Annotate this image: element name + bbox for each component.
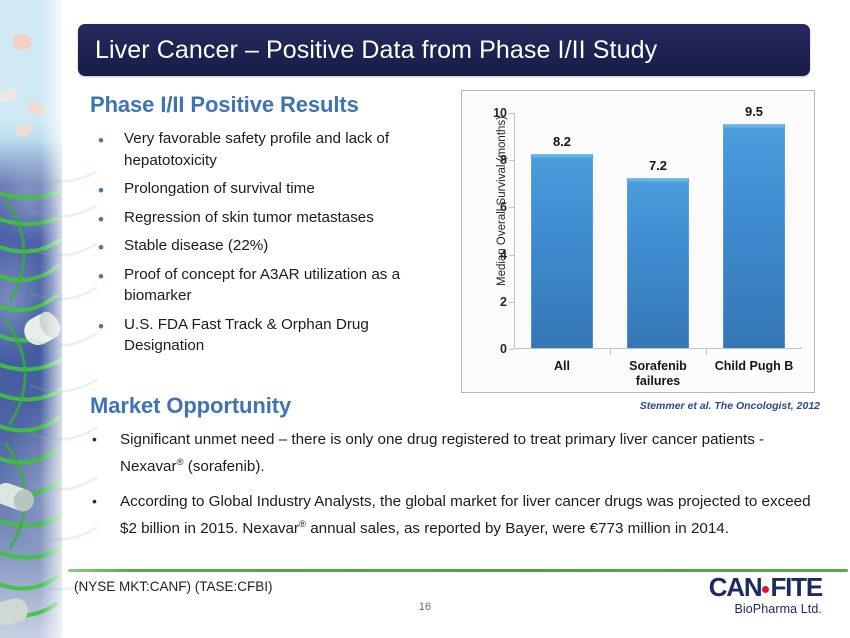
- chart-y-tick-label: 10: [493, 106, 507, 120]
- chart-bar-cap: [724, 124, 784, 128]
- survival-bar-chart: Median Overall Survival (months) 0246810…: [461, 90, 815, 393]
- list-item: • Significant unmet need – there is only…: [92, 428, 812, 478]
- bullet-dot-icon: •: [98, 264, 124, 285]
- results-bullet-list: • Very favorable safety profile and lack…: [98, 128, 448, 364]
- chart-bar-cap: [532, 154, 592, 158]
- bullet-dot-icon: •: [98, 207, 124, 228]
- list-item-text: Very favorable safety profile and lack o…: [124, 128, 448, 171]
- ghost-swirl-graphic: [30, 150, 100, 620]
- section-heading-results: Phase I/II Positive Results: [90, 92, 359, 118]
- list-item-text: U.S. FDA Fast Track & Orphan Drug Design…: [124, 314, 448, 357]
- list-item: • Stable disease (22%): [98, 235, 448, 257]
- section-heading-market: Market Opportunity: [90, 393, 291, 419]
- slide-canvas: Liver Cancer – Positive Data from Phase …: [0, 0, 850, 638]
- list-item-text: According to Global Industry Analysts, t…: [120, 490, 812, 540]
- chart-bar: 8.2: [531, 154, 593, 348]
- chart-x-axis-line: [514, 348, 802, 349]
- company-logo: CANFITE BioPharma Ltd.: [686, 574, 822, 616]
- page-title: Liver Cancer – Positive Data from Phase …: [78, 36, 657, 65]
- chart-y-tick-label: 8: [500, 153, 507, 167]
- list-item: • According to Global Industry Analysts,…: [92, 490, 812, 540]
- chart-y-tick-label: 4: [500, 248, 507, 262]
- logo-subtitle: BioPharma Ltd.: [686, 602, 822, 616]
- chart-plot-area: 0246810 8.27.29.5 AllSorafenibfailuresCh…: [514, 113, 802, 349]
- logo-word-fite: FITE: [770, 574, 822, 600]
- market-bullet-list: • Significant unmet need – there is only…: [92, 428, 812, 552]
- bullet-dot-icon: •: [98, 235, 124, 256]
- list-item-text: Prolongation of survival time: [124, 178, 315, 200]
- chart-y-tick-label: 6: [500, 200, 507, 214]
- list-item: • Regression of skin tumor metastases: [98, 207, 448, 229]
- chart-y-tick-label: 2: [500, 295, 507, 309]
- chart-bar-cap: [628, 178, 688, 182]
- list-item: • Very favorable safety profile and lack…: [98, 128, 448, 171]
- list-item: • Proof of concept for A3AR utilization …: [98, 264, 448, 307]
- bullet-dot-icon: •: [92, 490, 120, 508]
- chart-bar: 9.5: [723, 124, 785, 348]
- chart-category-label: Sorafenibfailures: [629, 359, 687, 389]
- chart-y-tick-mark: [509, 207, 514, 208]
- chart-y-axis-line: [514, 113, 515, 349]
- logo-red-dot-icon: [762, 586, 769, 593]
- chart-y-tick-mark: [509, 302, 514, 303]
- chart-y-tick-mark: [509, 113, 514, 114]
- chart-bar: 7.2: [627, 178, 689, 348]
- list-item: • Prolongation of survival time: [98, 178, 448, 200]
- chart-category-separator: [706, 349, 707, 355]
- chart-y-tick-mark: [509, 349, 514, 350]
- chart-bar-value-label: 7.2: [649, 158, 667, 173]
- list-item-text: Regression of skin tumor metastases: [124, 207, 374, 229]
- chart-bar-value-label: 9.5: [745, 104, 763, 119]
- logo-word-can: CAN: [709, 574, 762, 600]
- chart-citation: Stemmer et al. The Oncologist, 2012: [620, 400, 820, 412]
- stock-ticker-text: (NYSE MKT:CANF) (TASE:CFBI): [74, 579, 273, 594]
- list-item: • U.S. FDA Fast Track & Orphan Drug Desi…: [98, 314, 448, 357]
- list-item-text: Significant unmet need – there is only o…: [120, 428, 812, 478]
- chart-y-tick-mark: [509, 255, 514, 256]
- chart-y-tick-label: 0: [500, 342, 507, 356]
- bullet-dot-icon: •: [98, 314, 124, 335]
- bullet-dot-icon: •: [92, 428, 120, 446]
- slide-title-bar: Liver Cancer – Positive Data from Phase …: [78, 24, 810, 76]
- bullet-dot-icon: •: [98, 178, 124, 199]
- chart-bar-value-label: 8.2: [553, 134, 571, 149]
- list-item-text: Proof of concept for A3AR utilization as…: [124, 264, 448, 307]
- chart-category-label: All: [554, 359, 570, 374]
- chart-category-label: Child Pugh B: [715, 359, 793, 374]
- chart-category-separator: [610, 349, 611, 355]
- bullet-dot-icon: •: [98, 128, 124, 149]
- chart-y-tick-mark: [509, 160, 514, 161]
- list-item-text: Stable disease (22%): [124, 235, 268, 257]
